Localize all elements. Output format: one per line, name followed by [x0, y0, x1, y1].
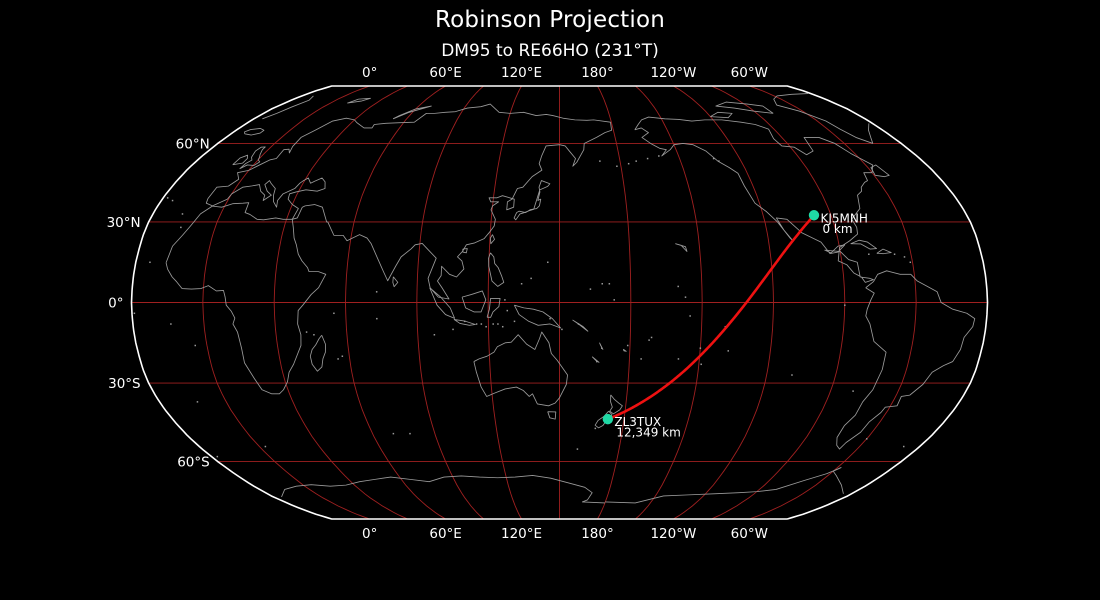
station-distance-label: 0 km	[822, 222, 852, 236]
lon-label-top-5: 0°	[362, 65, 377, 81]
lon-label-top-0: 60°E	[429, 65, 461, 81]
robinson-map: KJ5MNH0 kmZL3TUX12,349 km 60°E60°E120°E1…	[0, 0, 1100, 600]
lon-label-top-4: 60°W	[731, 65, 768, 81]
station-markers[interactable]: KJ5MNH0 kmZL3TUX12,349 km	[603, 210, 868, 440]
graticule-lines	[132, 86, 988, 519]
station-marker-zl3tux[interactable]	[603, 414, 613, 424]
lat-label-0: 60°N	[176, 136, 210, 152]
lon-label-bottom-5: 0°	[362, 526, 377, 542]
axis-labels: 60°E60°E120°E120°E180°180°120°W120°W60°W…	[107, 65, 768, 542]
station-marker-kj5mnh[interactable]	[809, 210, 819, 220]
great-circle-path	[608, 215, 814, 419]
station-distance-label: 12,349 km	[616, 426, 680, 440]
map-figure: Robinson Projection DM95 to RE66HO (231°…	[0, 0, 1100, 600]
lon-label-top-1: 120°E	[501, 65, 542, 81]
lon-label-bottom-4: 60°W	[731, 526, 768, 542]
lat-label-4: 60°S	[177, 455, 210, 471]
coastlines	[134, 94, 975, 503]
lat-label-3: 30°S	[108, 376, 141, 392]
lon-label-bottom-3: 120°W	[650, 526, 696, 542]
lon-label-top-2: 180°	[581, 65, 614, 81]
lon-label-bottom-2: 180°	[581, 526, 614, 542]
lat-label-2: 0°	[108, 296, 123, 312]
lon-label-top-3: 120°W	[650, 65, 696, 81]
lon-label-bottom-0: 60°E	[429, 526, 461, 542]
lat-label-1: 30°N	[107, 215, 141, 231]
lon-label-bottom-1: 120°E	[501, 526, 542, 542]
